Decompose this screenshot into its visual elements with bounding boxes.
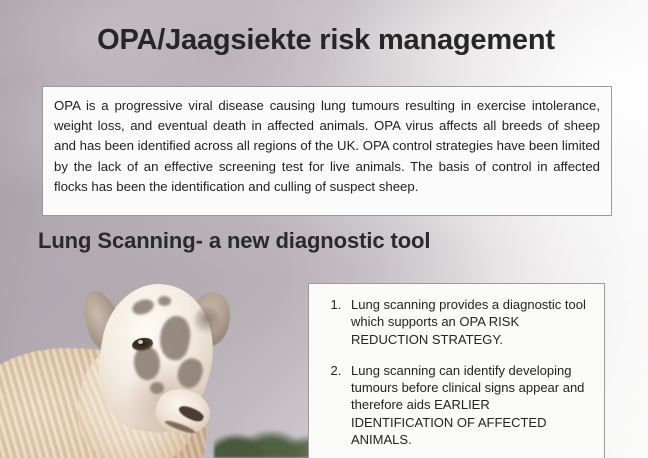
slide-canvas: OPA/Jaagsiekte risk management OPA is a … — [0, 0, 648, 458]
face-marking — [158, 296, 171, 306]
description-box: OPA is a progressive viral disease causi… — [42, 86, 612, 216]
list-item: Lung scanning provides a diagnostic tool… — [345, 296, 594, 348]
face-marking — [150, 382, 164, 394]
description-paragraph: OPA is a progressive viral disease causi… — [54, 96, 600, 197]
section-subtitle: Lung Scanning- a new diagnostic tool — [38, 228, 430, 254]
page-title: OPA/Jaagsiekte risk management — [26, 24, 626, 56]
sheep-photo-subject — [0, 254, 282, 458]
sheep-eye-glint — [138, 340, 143, 344]
list-item: Lung scanning can identify developing tu… — [345, 362, 594, 448]
key-points-box: Lung scanning provides a diagnostic tool… — [308, 283, 605, 458]
key-points-list: Lung scanning provides a diagnostic tool… — [317, 296, 594, 448]
